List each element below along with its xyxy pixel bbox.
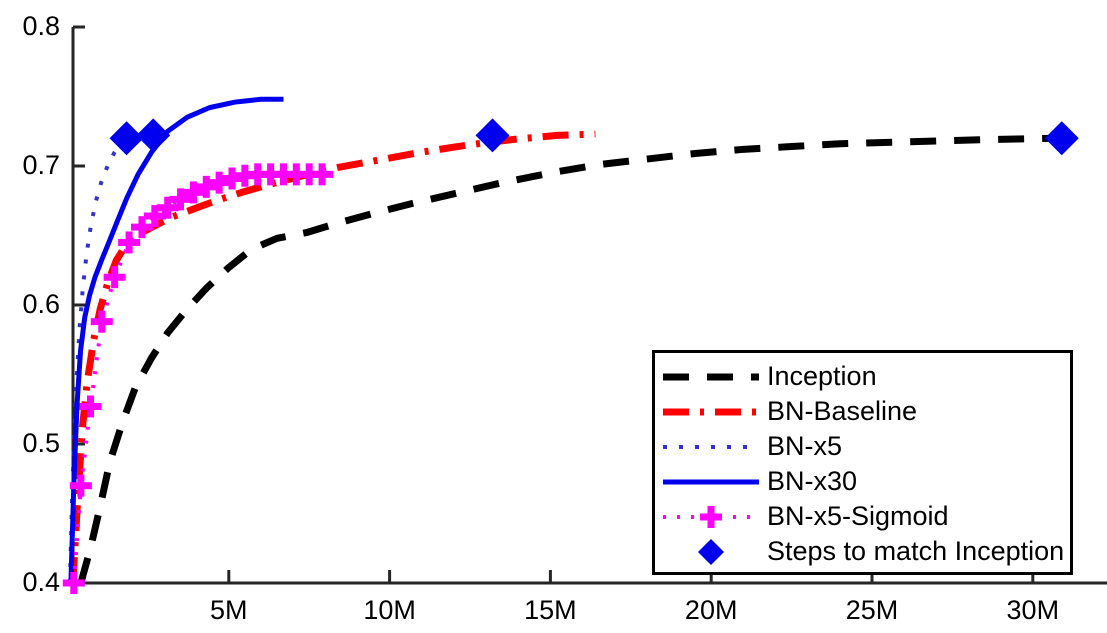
- legend-label: BN-x5-Sigmoid: [767, 501, 949, 532]
- legend-item: BN-Baseline: [655, 394, 1070, 429]
- blue-diamond-marker-icon: [655, 534, 767, 569]
- legend-label: BN-x30: [767, 466, 857, 497]
- legend-label: BN-Baseline: [767, 396, 917, 427]
- diamond-marker: [136, 118, 170, 152]
- diamond-marker: [110, 121, 144, 155]
- plus-marker: [91, 311, 113, 333]
- chart-page: 0.40.50.60.70.8 5M10M15M20M25M30M Incept…: [0, 0, 1107, 633]
- legend-label: Inception: [767, 361, 877, 392]
- plus-marker: [208, 172, 230, 194]
- legend-label: BN-x5: [767, 431, 842, 462]
- legend-label: Steps to match Inception: [767, 536, 1064, 567]
- magenta-dotted-plus-line-icon: [655, 499, 767, 534]
- x-tick-label: 25M: [812, 597, 932, 624]
- legend-item: BN-x30: [655, 464, 1070, 499]
- x-tick-label: 10M: [330, 597, 450, 624]
- legend-item: BN-x5: [655, 429, 1070, 464]
- black-dashed-line-icon: [655, 359, 767, 394]
- legend-item: BN-x5-Sigmoid: [655, 499, 1070, 534]
- blue-dotted-line-icon: [655, 429, 767, 464]
- x-tick-label: 5M: [169, 597, 289, 624]
- x-tick-label: 30M: [973, 597, 1093, 624]
- legend-item: Steps to match Inception: [655, 534, 1070, 569]
- x-tick-label: 20M: [651, 597, 771, 624]
- match-inception-markers: [110, 118, 1079, 155]
- y-tick-label: 0.6: [0, 291, 60, 318]
- y-tick-label: 0.7: [0, 152, 60, 179]
- plus-marker: [311, 163, 333, 185]
- plus-marker: [118, 231, 140, 253]
- red-dashdot-line-icon: [655, 394, 767, 429]
- y-tick-label: 0.8: [0, 13, 60, 40]
- y-tick-label: 0.5: [0, 430, 60, 457]
- y-tick-label: 0.4: [0, 569, 60, 596]
- diamond-marker: [1045, 121, 1079, 155]
- blue-solid-line-icon: [655, 464, 767, 499]
- chart-legend: InceptionBN-BaselineBN-x5BN-x30BN-x5-Sig…: [652, 350, 1073, 575]
- diamond-marker: [476, 118, 510, 152]
- x-tick-label: 15M: [490, 597, 610, 624]
- legend-item: Inception: [655, 359, 1070, 394]
